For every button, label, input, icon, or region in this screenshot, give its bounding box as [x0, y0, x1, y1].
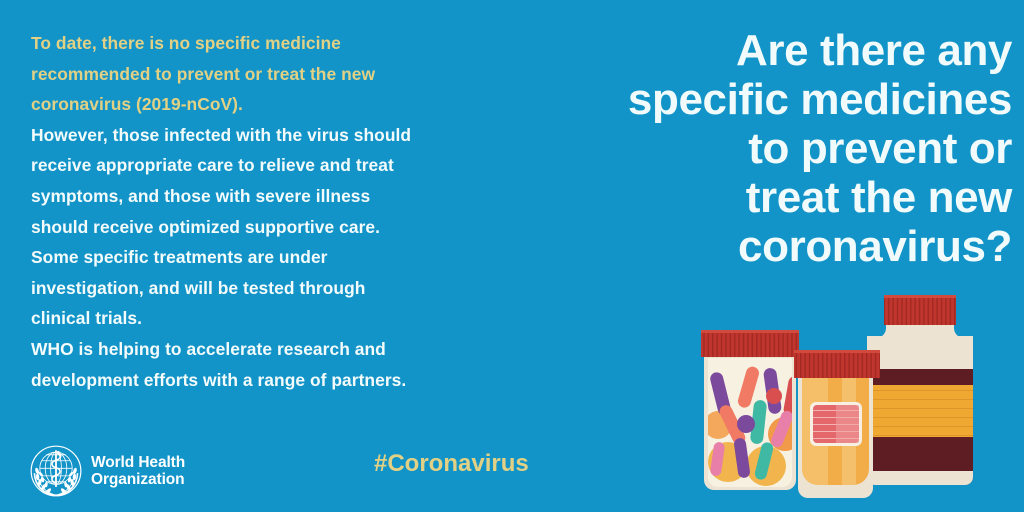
headline-line: Are there any [592, 26, 1012, 75]
headline-line: specific medicines [592, 75, 1012, 124]
body-line: To date, there is no specific medicine [31, 28, 556, 59]
medicine-bottle-right [867, 295, 973, 485]
who-coronavirus-infographic: To date, there is no specific medicine r… [0, 0, 1024, 512]
pill-jar-left [701, 330, 802, 490]
body-line: symptoms, and those with severe illness [31, 181, 556, 212]
hashtag: #Coronavirus [374, 450, 529, 478]
body-line: should receive optimized supportive care… [31, 212, 556, 243]
body-line: recommended to prevent or treat the new [31, 59, 556, 90]
who-logo: World Health Organization [29, 444, 185, 498]
body-line: However, those infected with the virus s… [31, 120, 556, 151]
body-line: receive appropriate care to relieve and … [31, 150, 556, 181]
body-line: Some specific treatments are under [31, 242, 556, 273]
body-copy: To date, there is no specific medicine r… [31, 28, 556, 395]
body-line: clinical trials. [31, 303, 556, 334]
who-wordmark: World Health Organization [91, 454, 185, 489]
body-line: WHO is helping to accelerate research an… [31, 334, 556, 365]
body-line: investigation, and will be tested throug… [31, 273, 556, 304]
medicine-bottles-illustration [690, 292, 1024, 512]
who-name-line-1: World Health [91, 454, 185, 472]
headline-line: coronavirus? [592, 222, 1012, 271]
body-line: coronavirus (2019-nCoV). [31, 89, 556, 120]
headline-line: to prevent or [592, 124, 1012, 173]
who-name-line-2: Organization [91, 471, 185, 489]
body-line: development efforts with a range of part… [31, 365, 556, 396]
syrup-bottle-middle [794, 350, 880, 498]
headline-line: treat the new [592, 173, 1012, 222]
who-emblem-icon [29, 444, 83, 498]
page-title: Are there any specific medicines to prev… [592, 26, 1012, 271]
